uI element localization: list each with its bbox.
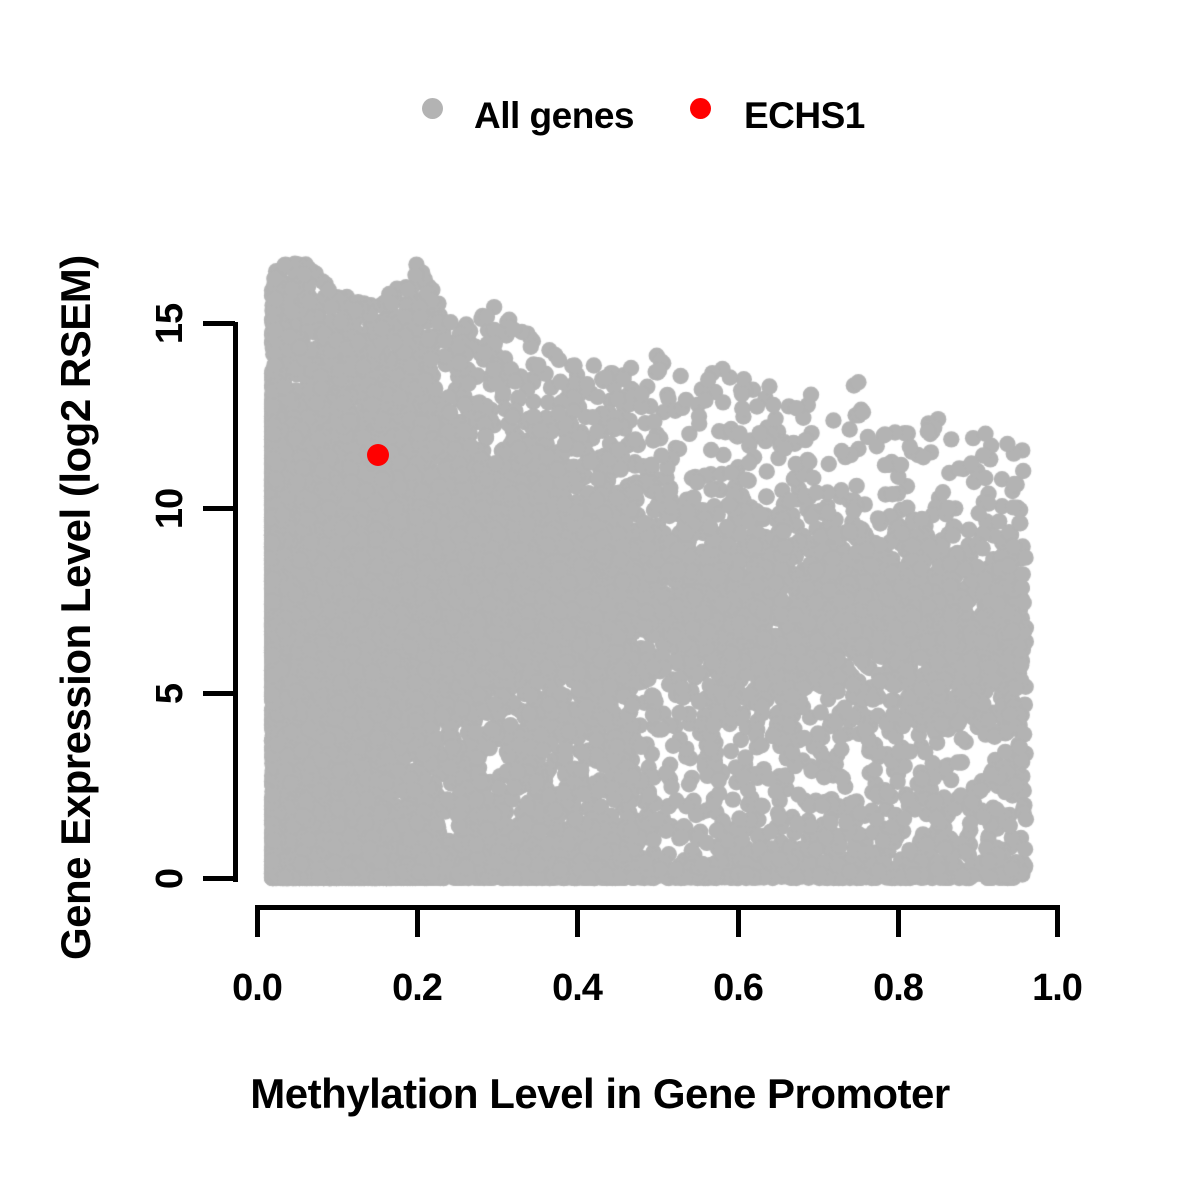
x-tick-label-5: 1.0 <box>997 967 1117 1010</box>
x-axis-title: Methylation Level in Gene Promoter <box>0 1070 1200 1118</box>
x-tick-1.0 <box>1055 905 1060 937</box>
x-tick-label-3: 0.6 <box>678 967 798 1010</box>
y-axis-line <box>233 322 238 882</box>
x-tick-0.8 <box>896 905 901 937</box>
y-tick-0 <box>203 876 235 881</box>
y-tick-15 <box>203 321 235 326</box>
y-tick-label-10: 10 <box>149 474 183 544</box>
y-axis-title: Gene Expression Level (log2 RSEM) <box>52 255 100 960</box>
y-tick-5 <box>203 691 235 696</box>
x-tick-0.0 <box>255 905 260 937</box>
x-axis-line <box>256 905 1060 910</box>
x-tick-label-0: 0.0 <box>197 967 317 1010</box>
scatter-plot-area: 0.0 0.2 0.4 0.6 0.8 1.0 0 5 10 15 <box>0 0 1200 1200</box>
x-tick-0.6 <box>736 905 741 937</box>
chart-figure: All genes ECHS1 0.0 0.2 0.4 0.6 0.8 1.0 … <box>0 0 1200 1200</box>
y-tick-label-15: 15 <box>149 289 183 359</box>
all-genes-point-cloud <box>0 0 1200 1200</box>
y-tick-10 <box>203 506 235 511</box>
x-tick-label-4: 0.8 <box>838 967 958 1010</box>
x-tick-label-1: 0.2 <box>357 967 477 1010</box>
x-tick-0.4 <box>575 905 580 937</box>
x-tick-0.2 <box>415 905 420 937</box>
x-tick-label-2: 0.4 <box>517 967 637 1010</box>
y-tick-label-0: 0 <box>149 859 183 899</box>
y-tick-label-5: 5 <box>149 674 183 714</box>
